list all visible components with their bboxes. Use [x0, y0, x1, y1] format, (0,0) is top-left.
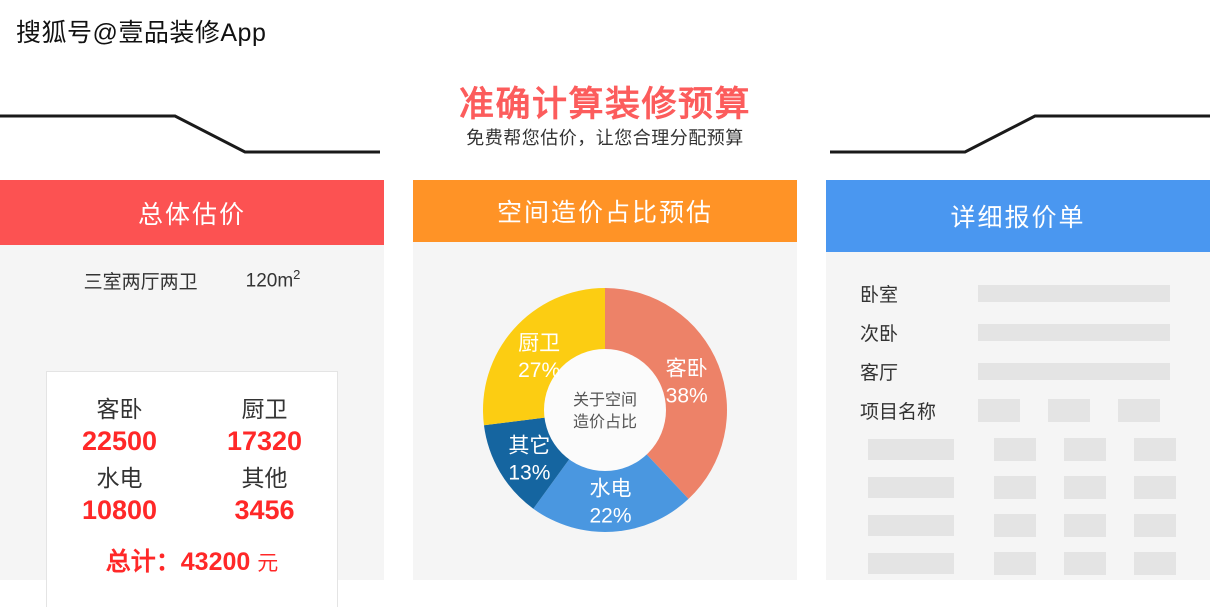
donut-label-category: 客卧: [666, 358, 708, 381]
quote-placeholder-cell: [1064, 552, 1106, 575]
quote-row-label: 客厅: [860, 358, 978, 385]
card-overall-estimate: 总体估价 三室两厅两卫 120m2 客卧 22500 厨卫 17320: [0, 180, 384, 580]
estimate-item-label: 水电: [47, 463, 192, 494]
quote-placeholder-cell: [1134, 552, 1176, 575]
estimate-item-value: 10800: [47, 494, 192, 528]
card-overall-header: 总体估价: [0, 180, 384, 245]
quote-placeholder-cell: [994, 438, 1036, 461]
estimate-item-label: 其他: [192, 463, 337, 494]
quote-placeholder-bar: [868, 553, 954, 574]
watermark-text: 搜狐号@壹品装修App: [16, 13, 266, 49]
estimate-item-label: 客卧: [47, 394, 192, 425]
estimate-item-value: 3456: [192, 494, 337, 528]
estimate-item-value: 17320: [192, 425, 337, 459]
estimate-cell: 客卧 22500: [47, 394, 192, 459]
overall-meta-row: 三室两厅两卫 120m2: [0, 245, 384, 294]
quote-placeholder-cell: [1048, 399, 1090, 422]
estimate-cell: 水电 10800: [47, 463, 192, 528]
estimate-item-label: 厨卫: [192, 394, 337, 425]
card-overall-body: 三室两厅两卫 120m2 客卧 22500 厨卫 17320 水电 10800: [0, 245, 384, 580]
quote-placeholder-cells: [994, 476, 1176, 499]
quote-placeholder-cell: [994, 476, 1036, 499]
card-quote-header: 详细报价单: [826, 180, 1210, 252]
donut-chart-svg: 关于空间 造价占比 客卧38%水电22%其它13%厨卫27%: [465, 270, 745, 550]
quote-placeholder-cells: [994, 514, 1176, 537]
page-subtitle: 免费帮您估价，让您合理分配预算: [0, 124, 1210, 150]
quote-placeholder-bar: [978, 285, 1170, 302]
estimate-box: 客卧 22500 厨卫 17320 水电 10800 其他 3456: [46, 371, 338, 607]
quote-skeleton-rows: [860, 430, 1176, 582]
quote-row: 次卧: [860, 313, 1176, 352]
donut-label-category: 厨卫: [518, 332, 560, 355]
donut-label-value: 27%: [518, 359, 560, 382]
quote-skeleton-row: [860, 506, 1176, 544]
quote-row-label: 项目名称: [860, 397, 978, 424]
quote-placeholder-cell: [1064, 514, 1106, 537]
estimate-item-value: 22500: [47, 425, 192, 459]
quote-placeholder-cells: [994, 552, 1176, 575]
quote-placeholder-bar: [868, 477, 954, 498]
card-quote-body: 卧室 次卧 客厅 项目名称: [826, 252, 1210, 580]
quote-row-label: 卧室: [860, 280, 978, 307]
area-label: 120m2: [246, 267, 301, 294]
donut-center-line2: 造价占比: [573, 413, 637, 431]
estimate-total: 总计：43200 元: [47, 542, 337, 578]
donut-center-line1: 关于空间: [573, 391, 637, 409]
donut-label-value: 22%: [589, 505, 631, 528]
quote-row: 项目名称: [860, 391, 1176, 430]
quote-row-label: 次卧: [860, 319, 978, 346]
quote-placeholder-cell: [994, 514, 1036, 537]
page-title: 准确计算装修预算: [0, 76, 1210, 127]
quote-placeholder-cell: [1134, 514, 1176, 537]
donut-label-category: 其它: [508, 435, 550, 458]
card-proportion-body: 关于空间 造价占比 客卧38%水电22%其它13%厨卫27%: [413, 242, 797, 580]
estimate-total-label: 总计：: [106, 548, 181, 576]
estimate-cell: 厨卫 17320: [192, 394, 337, 459]
quote-placeholder-cell: [1134, 438, 1176, 461]
donut-label-category: 水电: [590, 478, 632, 501]
banner: 准确计算装修预算 免费帮您估价，让您合理分配预算: [0, 60, 1210, 170]
quote-placeholder-bar: [868, 439, 954, 460]
donut-chart: 关于空间 造价占比 客卧38%水电22%其它13%厨卫27%: [465, 270, 745, 550]
donut-hole: [544, 349, 666, 471]
estimate-grid: 客卧 22500 厨卫 17320 水电 10800 其他 3456: [47, 372, 337, 528]
quote-placeholder-cells: [978, 399, 1160, 422]
quote-placeholder-cell: [1064, 438, 1106, 461]
quote-skeleton-row: [860, 468, 1176, 506]
quote-placeholder-cell: [994, 552, 1036, 575]
quote-placeholder-cell: [1064, 476, 1106, 499]
quote-placeholder-bar: [978, 324, 1170, 341]
card-cost-proportion: 空间造价占比预估 关于空间 造价占比 客卧38%水电22%其它13%厨卫27%: [413, 180, 797, 580]
quote-skeleton-row: [860, 430, 1176, 468]
quote-row: 卧室: [860, 274, 1176, 313]
quote-placeholder-cell: [1134, 476, 1176, 499]
quote-list: 卧室 次卧 客厅 项目名称: [826, 252, 1210, 582]
estimate-total-value: 43200: [181, 548, 251, 576]
estimate-cell: 其他 3456: [192, 463, 337, 528]
card-proportion-header: 空间造价占比预估: [413, 180, 797, 242]
quote-placeholder-cell: [1118, 399, 1160, 422]
donut-label-value: 13%: [508, 462, 550, 485]
estimate-total-unit: 元: [257, 552, 278, 575]
page-root: 搜狐号@壹品装修App 准确计算装修预算 免费帮您估价，让您合理分配预算 总体估…: [0, 0, 1210, 607]
quote-skeleton-row: [860, 544, 1176, 582]
quote-placeholder-cells: [994, 438, 1176, 461]
quote-row: 客厅: [860, 352, 1176, 391]
house-type-label: 三室两厅两卫: [84, 267, 198, 294]
donut-label-value: 38%: [666, 385, 708, 408]
quote-placeholder-bar: [978, 363, 1170, 380]
card-detailed-quote: 详细报价单 卧室 次卧 客厅 项目名称: [826, 180, 1210, 580]
quote-placeholder-cell: [978, 399, 1020, 422]
quote-placeholder-bar: [868, 515, 954, 536]
